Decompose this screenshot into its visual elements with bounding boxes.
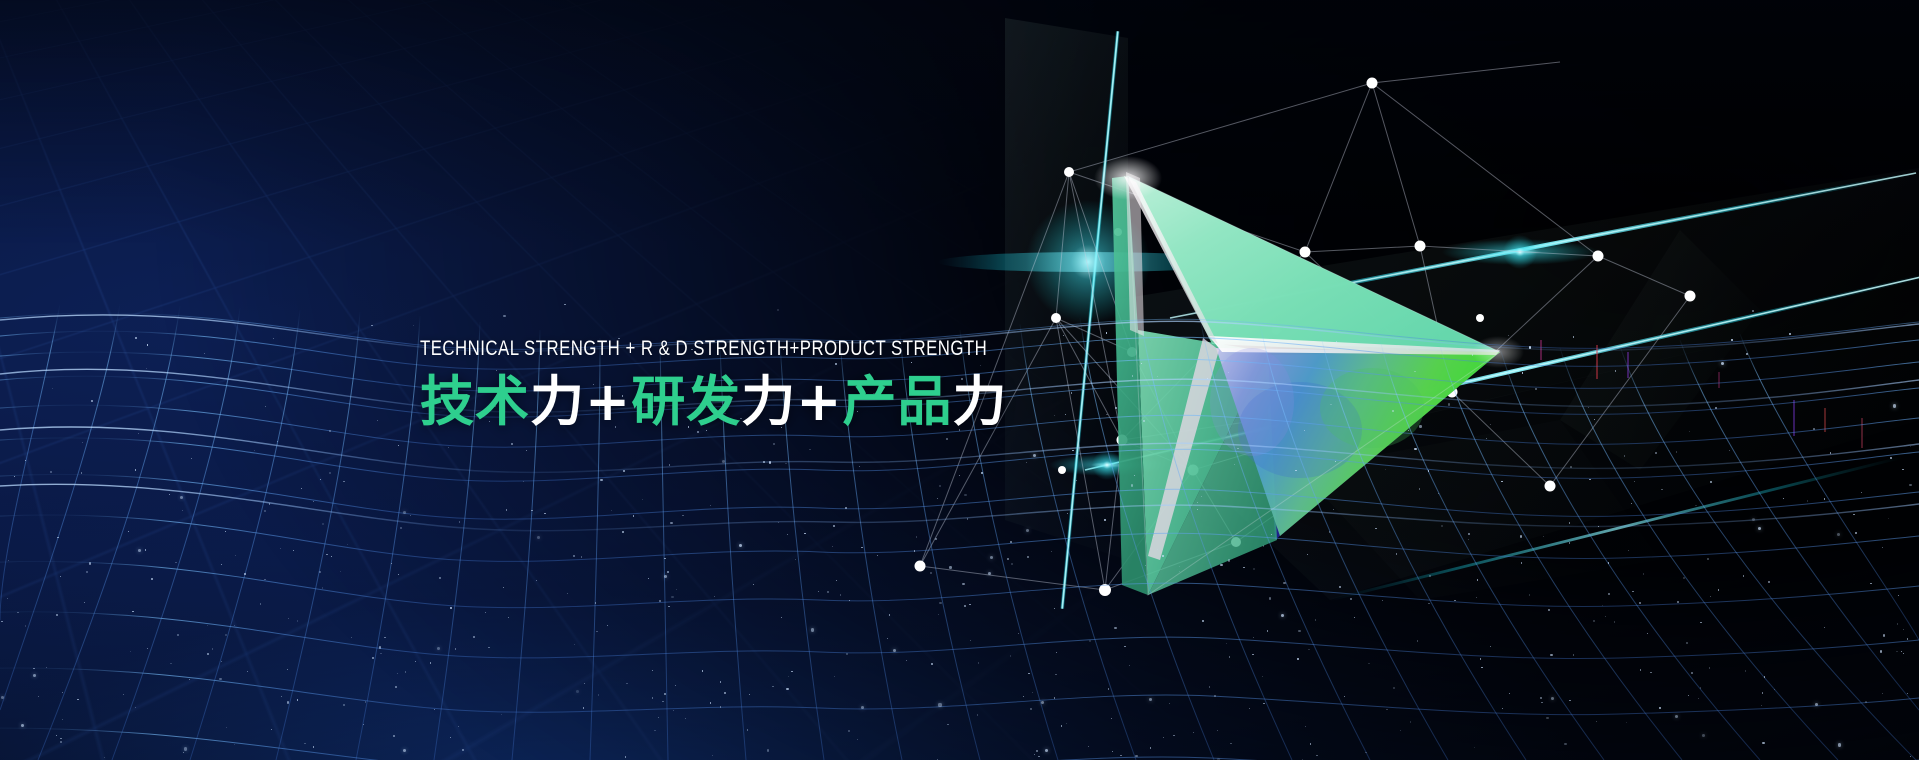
- particle-dot: [714, 596, 715, 597]
- particle-dot: [1883, 634, 1885, 636]
- particle-dot: [720, 681, 721, 682]
- particle-dot: [1111, 718, 1112, 719]
- particle-dot: [33, 668, 34, 669]
- particle-dot: [1824, 498, 1825, 499]
- particle-dot: [264, 579, 265, 580]
- particle-dot: [722, 460, 725, 463]
- particle-dot: [1271, 534, 1272, 535]
- particle-dot: [225, 634, 226, 635]
- particle-dot: [1214, 695, 1215, 696]
- particle-dot: [391, 563, 392, 564]
- particle-dot: [1344, 696, 1345, 697]
- particle-dot: [1550, 654, 1552, 656]
- particle-dot: [234, 744, 235, 745]
- particle-dot: [1870, 583, 1871, 584]
- particle-dot: [1163, 737, 1164, 738]
- particle-dot: [128, 531, 129, 532]
- particle-dot: [177, 634, 179, 636]
- particle-dot: [1880, 650, 1882, 652]
- particle-dot: [1683, 577, 1685, 579]
- particle-dot: [877, 555, 878, 556]
- particle-dot: [769, 461, 771, 463]
- particle-dot: [1903, 653, 1904, 654]
- particle-dot: [1647, 633, 1648, 634]
- particle-dot: [1249, 708, 1250, 709]
- particle-dot: [1698, 698, 1699, 699]
- particle-dot: [207, 625, 208, 626]
- particle-dot: [508, 617, 509, 618]
- particle-dot: [978, 662, 979, 663]
- particle-dot: [503, 315, 505, 317]
- particle-dot: [52, 388, 53, 389]
- particle-dot: [939, 602, 941, 604]
- particle-dot: [1132, 375, 1133, 376]
- particle-dot: [1193, 732, 1194, 733]
- particle-dot: [1262, 676, 1263, 677]
- particle-dot: [329, 472, 331, 474]
- particle-dot: [1729, 450, 1730, 451]
- particle-dot: [413, 325, 414, 326]
- particle-dot: [946, 438, 948, 440]
- particle-dot: [777, 309, 779, 311]
- particle-dot: [1675, 715, 1678, 718]
- particle-dot: [747, 729, 748, 730]
- particle-dot: [14, 476, 15, 477]
- particle-dot: [739, 544, 742, 547]
- particle-dot: [1209, 686, 1210, 687]
- particle-dot: [1448, 403, 1450, 405]
- particle-dot: [247, 671, 248, 672]
- particle-dot: [781, 617, 782, 618]
- particle-dot: [827, 591, 828, 592]
- particle-dot: [581, 556, 582, 557]
- particle-dot: [1072, 450, 1073, 451]
- particle-dot: [1438, 493, 1439, 494]
- particle-dot: [175, 562, 176, 563]
- particle-dot: [1120, 755, 1121, 756]
- particle-dot: [384, 637, 385, 638]
- particle-dot: [1594, 419, 1595, 420]
- particle-dot: [658, 717, 659, 718]
- particle-dot: [611, 510, 612, 511]
- particle-dot: [398, 445, 399, 446]
- particle-dot: [623, 470, 625, 472]
- particle-dot: [60, 738, 61, 739]
- particle-dot: [1065, 414, 1066, 415]
- particle-dot: [1522, 372, 1523, 373]
- particle-dot: [949, 566, 951, 568]
- particle-dot: [664, 558, 665, 559]
- particle-dot: [1045, 749, 1048, 752]
- particle-dot: [1393, 687, 1395, 689]
- particle-dot: [1762, 692, 1763, 693]
- particle-dot: [225, 531, 226, 532]
- particle-dot: [767, 749, 769, 751]
- particle-dot: [189, 679, 190, 680]
- particle-dot: [1026, 529, 1029, 532]
- headline-seg-2: 力: [530, 370, 585, 433]
- particle-dot: [455, 648, 456, 649]
- particle-dot: [1150, 747, 1151, 748]
- particle-dot: [1335, 461, 1336, 462]
- particle-dot: [1067, 513, 1068, 514]
- particle-dot: [1910, 446, 1911, 447]
- particle-dot: [1707, 558, 1709, 560]
- particle-dot: [1253, 568, 1255, 570]
- headline-seg-4: 研发: [631, 370, 741, 433]
- particle-dot: [1813, 428, 1815, 430]
- particle-dot: [62, 692, 63, 693]
- particle-dot: [574, 644, 575, 645]
- particle-dot: [1903, 629, 1904, 630]
- particle-dot: [91, 400, 92, 401]
- particle-dot: [1898, 595, 1899, 596]
- particle-dot: [147, 344, 148, 345]
- particle-dot: [1018, 633, 1019, 634]
- hero-copy-block: TECHNICAL STRENGTH + R & D STRENGTH+PROD…: [420, 336, 1040, 433]
- particle-dot: [1228, 559, 1230, 561]
- particle-dot: [393, 735, 395, 737]
- particle-dot: [293, 550, 294, 551]
- particle-dot: [626, 683, 627, 684]
- particle-dot: [1605, 616, 1606, 617]
- particle-dot: [595, 602, 596, 603]
- particle-dot: [147, 648, 148, 649]
- particle-dot: [664, 693, 666, 695]
- particle-dot: [1570, 466, 1572, 468]
- particle-dot: [1715, 407, 1716, 408]
- particle-dot: [1632, 591, 1633, 592]
- particle-dot: [340, 571, 341, 572]
- particle-dot: [846, 653, 848, 655]
- particle-dot: [1419, 425, 1421, 427]
- particle-dot: [1481, 667, 1482, 668]
- particle-dot: [1853, 514, 1854, 515]
- particle-dot: [670, 522, 672, 524]
- particle-dot: [403, 511, 406, 514]
- particle-dot: [773, 443, 775, 445]
- particle-dot: [600, 479, 602, 481]
- particle-dot: [221, 661, 222, 662]
- particle-dot: [990, 556, 993, 559]
- particle-dot: [1350, 598, 1352, 600]
- particle-dot: [1023, 696, 1024, 697]
- particle-dot: [377, 420, 378, 421]
- particle-dot: [1441, 525, 1443, 527]
- particle-dot: [1054, 697, 1055, 698]
- particle-dot: [1089, 640, 1090, 641]
- particle-dot: [1419, 488, 1420, 489]
- particle-dot: [448, 447, 449, 448]
- particle-dot: [180, 496, 183, 499]
- particle-dot: [322, 587, 323, 588]
- particle-dot: [1474, 747, 1475, 748]
- particle-dot: [254, 450, 255, 451]
- particle-dot: [1297, 658, 1298, 659]
- particle-dot: [1145, 565, 1146, 566]
- particle-dot: [861, 547, 862, 548]
- particle-dot: [398, 574, 399, 575]
- particle-dot: [1229, 656, 1230, 657]
- particle-dot: [1897, 623, 1898, 624]
- particle-dot: [840, 594, 841, 595]
- particle-dot: [25, 625, 26, 626]
- particle-dot: [281, 696, 282, 697]
- particle-dot: [710, 702, 711, 703]
- particle-dot: [287, 701, 289, 703]
- particle-dot: [671, 596, 673, 598]
- particle-dot: [1104, 519, 1105, 520]
- particle-dot: [204, 353, 205, 354]
- particle-dot: [969, 604, 970, 605]
- particle-dot: [1624, 455, 1625, 456]
- particle-dot: [664, 575, 667, 578]
- particle-dot: [1041, 701, 1044, 704]
- particle-dot: [212, 648, 213, 649]
- particle-dot: [184, 747, 187, 750]
- particle-dot: [1677, 601, 1679, 603]
- particle-dot: [1033, 454, 1036, 457]
- particle-dot: [887, 638, 888, 639]
- particle-dot: [151, 578, 153, 580]
- particle-dot: [1179, 571, 1180, 572]
- particle-dot: [720, 706, 721, 707]
- particle-dot: [1055, 674, 1056, 675]
- particle-dot: [1220, 564, 1222, 566]
- particle-dot: [1, 696, 4, 699]
- particle-dot: [313, 501, 314, 502]
- particle-dot: [1573, 336, 1574, 337]
- particle-dot: [1596, 721, 1597, 722]
- particle-dot: [319, 571, 321, 573]
- particle-dot: [834, 676, 835, 677]
- particle-dot: [1283, 582, 1285, 584]
- particle-dot: [642, 499, 643, 500]
- particle-dot: [260, 603, 261, 604]
- particle-dot: [988, 572, 991, 575]
- particle-dot: [1124, 646, 1125, 647]
- particle-dot: [1114, 627, 1116, 629]
- headline-seg-8: 力: [953, 370, 1008, 433]
- particle-dot: [1329, 531, 1330, 532]
- particle-dot: [21, 724, 24, 727]
- particle-dot: [1486, 438, 1487, 439]
- particle-dot: [536, 580, 537, 581]
- particle-dot: [682, 515, 683, 516]
- particle-dot: [1066, 723, 1067, 724]
- particle-dot: [662, 701, 663, 702]
- particle-dot: [778, 522, 779, 523]
- particle-dot: [33, 674, 36, 677]
- headline-seg-1: 技术: [420, 370, 530, 433]
- particle-dot: [1501, 481, 1502, 482]
- particle-dot: [1112, 751, 1113, 752]
- particle-dot: [501, 714, 502, 715]
- particle-dot: [130, 651, 131, 652]
- particle-dot: [1106, 332, 1107, 333]
- particle-dot: [1333, 509, 1334, 510]
- particle-dot: [1509, 693, 1510, 694]
- particle-dot: [473, 636, 475, 638]
- particle-dot: [1339, 586, 1340, 587]
- particle-dot: [84, 602, 85, 603]
- particle-dot: [244, 573, 246, 575]
- particle-dot: [145, 549, 146, 550]
- particle-dot: [506, 509, 507, 510]
- particle-dot: [1307, 554, 1308, 555]
- particle-dot: [1237, 448, 1238, 449]
- particle-dot: [135, 337, 137, 339]
- particle-dot: [1162, 555, 1163, 556]
- particle-dot: [1263, 703, 1264, 704]
- particle-dot: [1626, 722, 1627, 723]
- particle-dot: [1129, 665, 1130, 666]
- particle-dot: [503, 587, 504, 588]
- particle-dot: [1758, 527, 1761, 530]
- particle-dot: [1207, 378, 1208, 379]
- particle-dot: [1700, 687, 1701, 688]
- particle-dot: [1480, 658, 1481, 659]
- particle-dot: [809, 449, 810, 450]
- particle-dot: [458, 726, 459, 727]
- particle-dot: [459, 521, 460, 522]
- particle-dot: [669, 464, 670, 465]
- particle-dot: [135, 469, 136, 470]
- particle-dot: [1893, 404, 1896, 407]
- particle-dot: [785, 463, 786, 464]
- particle-dot: [964, 494, 966, 496]
- particle-dot: [169, 494, 170, 495]
- particle-dot: [836, 580, 837, 581]
- particle-dot: [1789, 333, 1790, 334]
- page-title: 技术力+研发力+产品力: [420, 371, 1040, 433]
- particle-dot: [1901, 651, 1902, 652]
- particle-dot: [1910, 756, 1911, 757]
- particle-dot: [1540, 697, 1541, 698]
- particle-dot: [1815, 703, 1818, 706]
- particle-dot: [1417, 640, 1418, 641]
- particle-dot: [967, 518, 968, 519]
- particle-dot: [916, 536, 917, 537]
- particle-dot: [1308, 649, 1309, 650]
- particle-dot: [1354, 617, 1355, 618]
- particle-dot: [132, 611, 133, 612]
- particle-dot: [1010, 541, 1012, 543]
- particle-dot: [832, 546, 833, 547]
- particle-dot: [351, 637, 352, 638]
- particle-dot: [437, 647, 440, 650]
- particle-dot: [1608, 562, 1609, 563]
- particle-dot: [1336, 341, 1337, 342]
- particle-dot: [511, 443, 512, 444]
- particle-dot: [930, 572, 932, 574]
- particle-dot: [786, 688, 788, 690]
- particle-dot: [1676, 451, 1677, 452]
- particle-dot: [753, 584, 754, 585]
- particle-dot: [791, 671, 792, 672]
- particle-dot: [1490, 424, 1491, 425]
- particle-dot: [1569, 522, 1570, 523]
- headline-seg-5: 力: [741, 370, 796, 433]
- particle-dot: [1731, 339, 1732, 340]
- particle-dot: [379, 646, 381, 648]
- particle-dot: [56, 614, 58, 616]
- particle-dot: [430, 662, 431, 663]
- particle-dot: [326, 554, 327, 555]
- particle-dot: [1752, 310, 1754, 312]
- particle-dot: [1745, 670, 1746, 671]
- particle-dot: [403, 749, 406, 752]
- particle-dot: [652, 697, 653, 698]
- particle-dot: [1217, 730, 1218, 731]
- particle-dot: [288, 618, 289, 619]
- particle-dot: [1807, 500, 1808, 501]
- particle-dot: [1686, 642, 1688, 644]
- particle-dot: [531, 510, 532, 511]
- particle-dot: [1201, 496, 1202, 497]
- particle-dot: [1490, 646, 1491, 647]
- particle-dot: [567, 593, 568, 594]
- particle-dot: [56, 735, 57, 736]
- particle-dot: [1298, 630, 1300, 632]
- particle-dot: [1643, 573, 1644, 574]
- particle-dot: [1305, 726, 1306, 727]
- particle-dot: [938, 614, 939, 615]
- particle-dot: [861, 706, 864, 709]
- particle-dot: [1007, 558, 1009, 560]
- particle-dot: [1634, 481, 1635, 482]
- particle-dot: [906, 660, 907, 661]
- particle-dot: [914, 550, 915, 551]
- particle-dot: [1774, 689, 1775, 690]
- particle-dot: [607, 625, 608, 626]
- particle-dot: [1141, 363, 1142, 364]
- particle-dot: [273, 338, 274, 339]
- particle-dot: [1, 621, 2, 622]
- particle-dot: [935, 538, 937, 540]
- particle-dot: [788, 676, 789, 677]
- particle-dot: [1056, 652, 1057, 653]
- particle-dot: [573, 555, 574, 556]
- particle-dot: [1226, 643, 1227, 644]
- particle-dot: [1400, 730, 1401, 731]
- particle-dot: [1173, 735, 1174, 736]
- particle-dot: [1051, 551, 1052, 552]
- particle-dot: [1408, 430, 1409, 431]
- particle-dot: [1882, 693, 1883, 694]
- particle-dot: [1529, 346, 1531, 348]
- particle-dot: [845, 507, 846, 508]
- particle-dot: [1564, 743, 1566, 745]
- particle-dot: [81, 472, 82, 473]
- particle-dot: [488, 647, 489, 648]
- particle-dot: [320, 479, 321, 480]
- particle-dot: [931, 663, 933, 665]
- particle-dot: [1386, 709, 1387, 710]
- particle-dot: [1365, 752, 1366, 753]
- particle-dot: [937, 498, 938, 499]
- particle-dot: [1615, 370, 1616, 371]
- particle-dot: [1598, 526, 1599, 527]
- particle-dot: [1535, 388, 1536, 389]
- particle-dot: [938, 703, 941, 706]
- particle-dot: [811, 628, 814, 631]
- particle-dot: [1896, 651, 1897, 652]
- particle-dot: [1396, 553, 1397, 554]
- particle-dot: [1520, 535, 1522, 537]
- particle-dot: [1263, 545, 1264, 546]
- particle-dot: [1743, 575, 1744, 576]
